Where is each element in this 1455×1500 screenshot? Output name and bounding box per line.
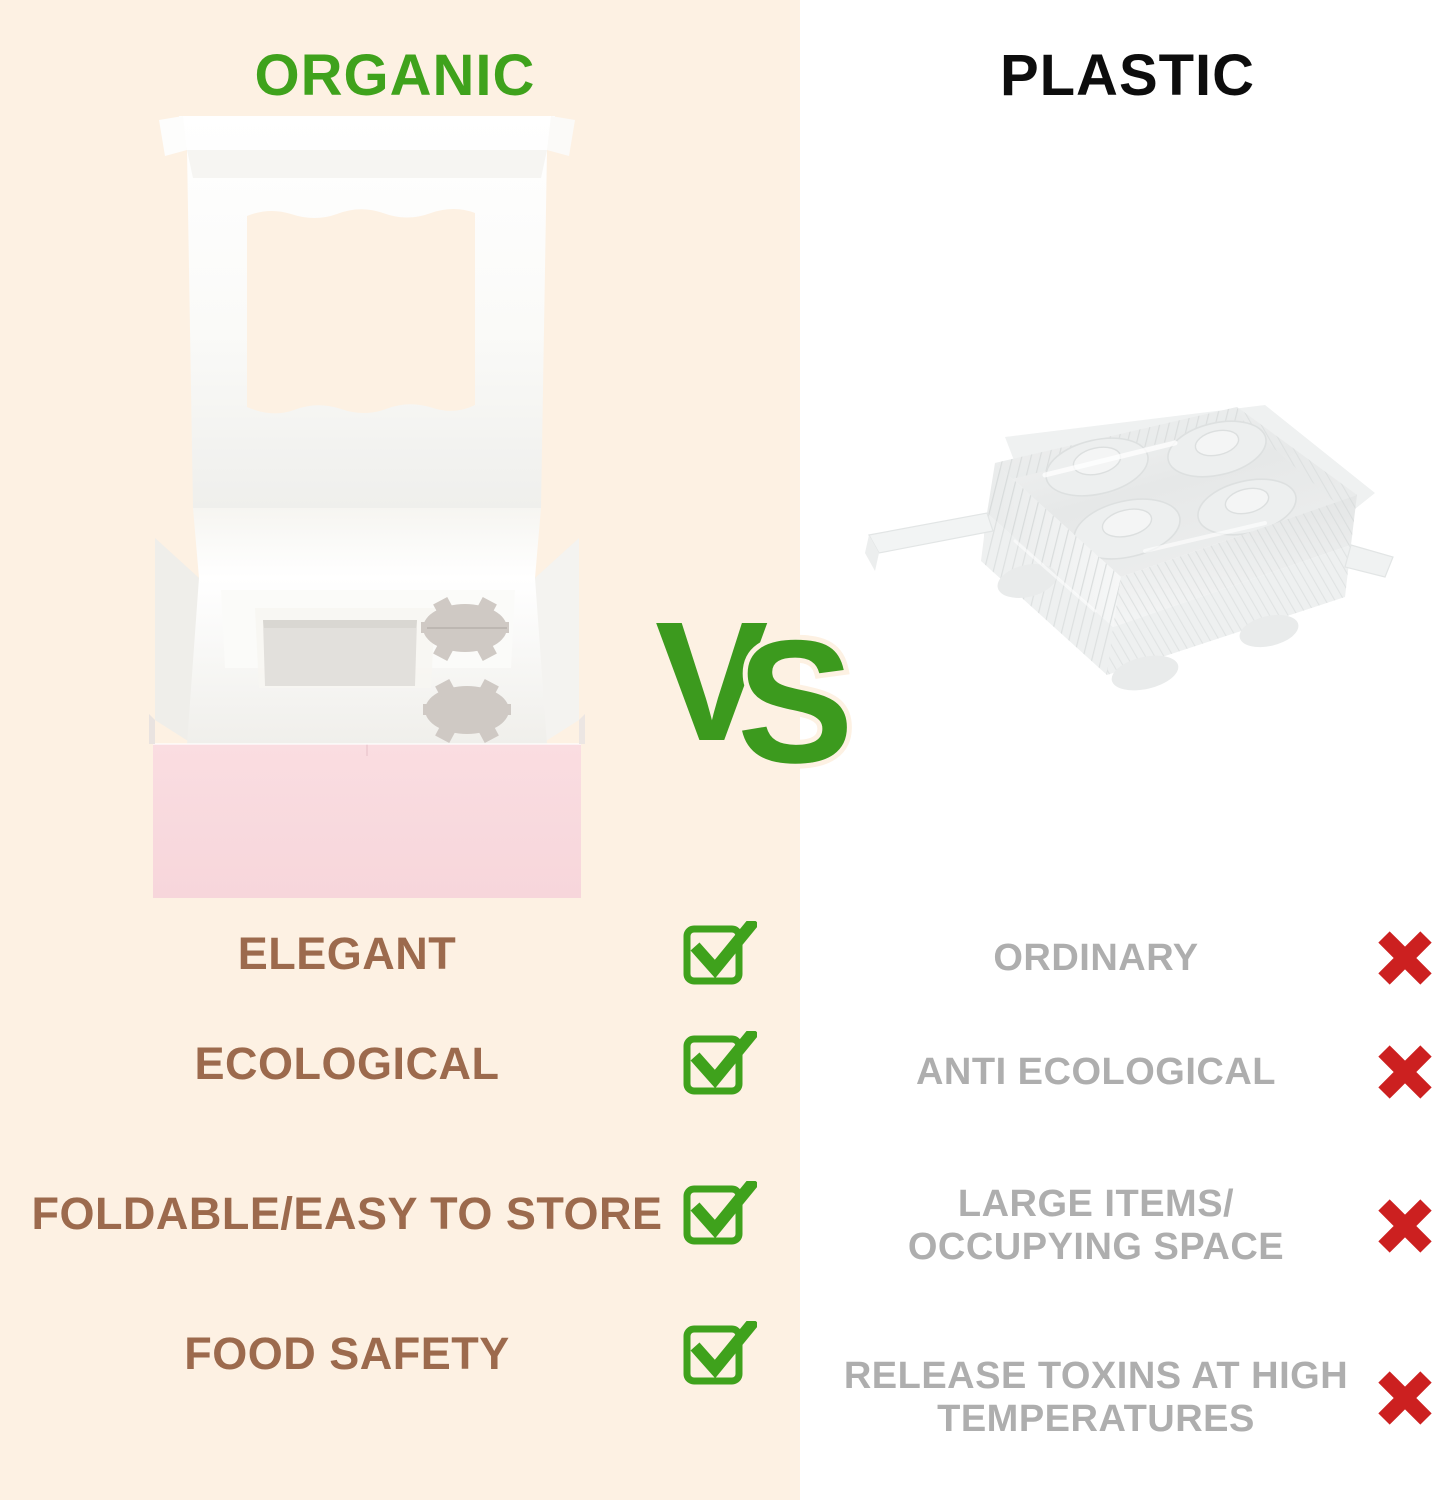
feature-row: ORDINARY <box>840 915 1440 1001</box>
versus-badge: V S S <box>655 590 870 770</box>
organic-heading: ORGANIC <box>0 42 790 109</box>
feature-row: ELEGANT <box>30 911 760 997</box>
check-icon <box>678 1029 760 1099</box>
check-icon <box>678 919 760 989</box>
plastic-feature-list: ORDINARY ANTI ECOLOGICAL LARGE ITEMS/ OC… <box>840 905 1440 1473</box>
feature-row: FOLDABLE/EASY TO STORE <box>30 1139 760 1289</box>
organic-box-image <box>135 108 600 908</box>
feature-row: ECOLOGICAL <box>30 1021 760 1107</box>
feature-row: LARGE ITEMS/ OCCUPYING SPACE <box>840 1151 1440 1301</box>
feature-label: ELEGANT <box>30 929 678 979</box>
cross-icon <box>1370 1041 1440 1103</box>
cross-icon <box>1370 927 1440 989</box>
feature-row: FOOD SAFETY <box>30 1299 760 1409</box>
feature-label: RELEASE TOXINS AT HIGH TEMPERATURES <box>840 1355 1370 1440</box>
feature-label: ORDINARY <box>840 937 1370 980</box>
organic-feature-list: ELEGANT ECOLOGICAL FOLDABLE/EASY TO STOR… <box>30 905 760 1409</box>
comparison-infographic: ORGANIC PLASTIC <box>0 0 1455 1500</box>
cross-icon <box>1370 1195 1440 1257</box>
feature-label: FOLDABLE/EASY TO STORE <box>30 1189 678 1239</box>
cross-icon <box>1370 1367 1440 1429</box>
feature-row: RELEASE TOXINS AT HIGH TEMPERATURES <box>840 1323 1440 1473</box>
feature-label: LARGE ITEMS/ OCCUPYING SPACE <box>840 1183 1370 1268</box>
check-icon <box>678 1179 760 1249</box>
feature-row: ANTI ECOLOGICAL <box>840 1029 1440 1115</box>
plastic-container-image <box>845 345 1415 720</box>
check-icon <box>678 1319 760 1389</box>
feature-label: ANTI ECOLOGICAL <box>840 1051 1370 1094</box>
feature-label: FOOD SAFETY <box>30 1329 678 1379</box>
versus-letter-s: S <box>737 605 854 770</box>
feature-label: ECOLOGICAL <box>30 1039 678 1089</box>
plastic-heading: PLASTIC <box>800 42 1455 109</box>
